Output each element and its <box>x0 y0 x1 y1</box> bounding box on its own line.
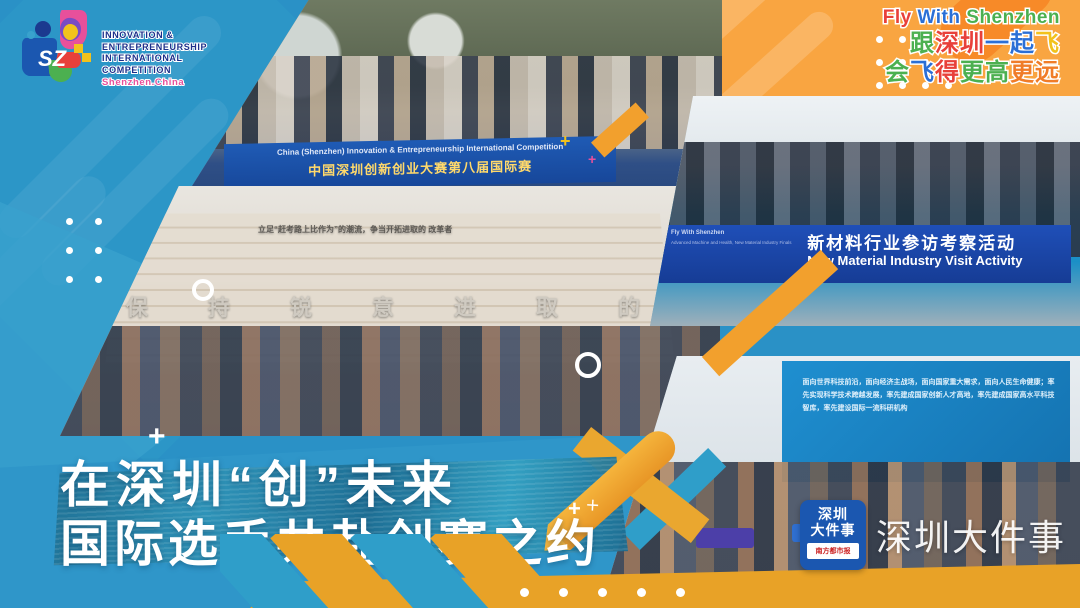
slogan-cn2-part-3: 得 <box>935 59 960 86</box>
photo3-banner: Fly With Shenzhen Advanced Machine and H… <box>659 225 1072 283</box>
brand-line-4: COMPETITION <box>102 65 207 77</box>
photo-new-material: Fly With Shenzhen Advanced Machine and H… <box>650 96 1080 326</box>
headline-line-1: 在深圳“创”未来 <box>60 455 600 515</box>
slogan-cn1-part-3: 一起 <box>985 30 1035 57</box>
photo-group-competition-crowd <box>192 56 722 149</box>
photo3-banner-small-en: Fly With Shenzhen <box>671 230 724 236</box>
brand-line-1: INNOVATION & <box>102 30 207 42</box>
slogan-cn2-part-2: 飞 <box>910 59 935 86</box>
watermark-badge: 深圳 大件事 南方都市报 <box>800 500 866 570</box>
slogan-english: Fly With Shenzhen <box>883 8 1060 27</box>
watermark-text: 深圳大件事 <box>876 509 1066 561</box>
poster-canvas: Fly With Shenzhen 跟深圳一起飞 会飞得更高更远 SZ INNO… <box>0 0 1080 608</box>
slogan-cn2-part-5: 更远 <box>1010 59 1060 86</box>
photo2-wall-text-2: 保持锐意进取的精神状态，做改革的弄潮者 <box>126 290 720 322</box>
slogan-chinese-line1: 跟深圳一起飞 <box>883 32 1060 56</box>
watermark-badge-line1: 深圳 <box>818 506 848 522</box>
ring-decoration-2 <box>192 279 214 301</box>
brand-line-2: ENTREPRENEURSHIP <box>102 42 207 54</box>
ring-decoration-1 <box>575 352 601 378</box>
plus-decoration-1: + <box>148 422 166 452</box>
slogan-cn1-part-1: 跟 <box>910 30 935 57</box>
photo1-banner: China (Shenzhen) Innovation & Entreprene… <box>224 136 616 186</box>
slogan-cn2-part-1: 会 <box>885 59 910 86</box>
watermark-badge-line2: 大件事 <box>810 522 855 538</box>
slogan-cn2-part-4: 更高 <box>960 59 1010 86</box>
dot-grid-left <box>66 218 102 283</box>
slogan-en-word-fly: Fly <box>883 7 912 28</box>
photo2-wall-text-1: 立足“赶考路上比作为”的潮流，争当开拓进取的 改革者 <box>258 224 452 235</box>
plus-decoration-3: + <box>560 132 571 150</box>
photo3-banner-english: New Material Industry Visit Activity <box>807 253 1022 268</box>
watermark: 深圳 大件事 南方都市报 深圳大件事 <box>800 500 1066 570</box>
slogan-chinese-line2: 会飞得更高更远 <box>883 61 1060 85</box>
plus-decoration-2: + <box>568 498 581 520</box>
svg-text:SZ: SZ <box>38 46 68 71</box>
photo1-banner-chinese: 中国深圳创新创业大赛第八届国际赛 <box>224 154 616 181</box>
plus-decoration-4: + <box>588 152 596 166</box>
watermark-badge-tag-text: 南方都市报 <box>815 546 850 556</box>
photo4-wall-text: 面向世界科技前沿，面向经济主战场，面向国家重大需求，面向人民生命健康；率先实现科… <box>803 376 1056 415</box>
slogan-cn1-part-4: 飞 <box>1035 30 1060 57</box>
bottom-dot-row <box>520 588 685 597</box>
watermark-badge-tag: 南方都市报 <box>807 543 859 559</box>
brand-logo: SZ INNOVATION & ENTREPRENEURSHIP INTERNA… <box>18 8 196 94</box>
slogan-en-word-with: With <box>918 7 961 28</box>
brand-line-3: INTERNATIONAL <box>102 53 207 65</box>
photo3-banner-small-sub: Advanced Machine and Health, New Materia… <box>671 240 795 246</box>
slogan-cn1-part-2: 深圳 <box>935 30 985 57</box>
slogan-en-word-shenzhen: Shenzhen <box>966 7 1060 28</box>
slogan-block: Fly With Shenzhen 跟深圳一起飞 会飞得更高更远 <box>883 8 1060 85</box>
brand-line-5: Shenzhen.China <box>102 77 207 89</box>
brand-logo-text: INNOVATION & ENTREPRENEURSHIP INTERNATIO… <box>102 30 207 89</box>
photo3-banner-chinese: 新材料行业参访考察活动 <box>807 229 1016 254</box>
sz-butterfly-logo-icon: SZ <box>18 8 100 88</box>
